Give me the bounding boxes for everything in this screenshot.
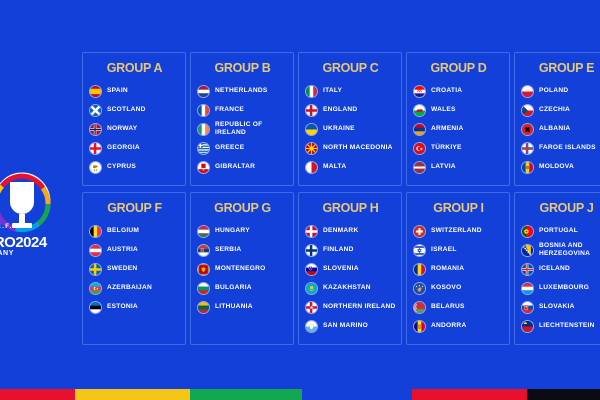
team-name: NETHERLANDS [215, 87, 268, 95]
flag-bulgaria [197, 282, 210, 295]
flag-georgia [89, 142, 102, 155]
team-name: WALES [431, 106, 456, 114]
team-name: TÜRKIYE [431, 144, 462, 152]
team-name: NORWAY [107, 125, 137, 133]
team-name: BELGIUM [107, 227, 139, 235]
team-name: SPAIN [107, 87, 128, 95]
flag-moldova [521, 161, 534, 174]
uefa-label: U.E.F.A. [0, 224, 22, 230]
group-title: GROUP A [89, 61, 180, 75]
team-row[interactable]: GREECE [197, 139, 288, 157]
team-row[interactable]: AZERBAIJAN [89, 279, 180, 297]
team-row[interactable]: ENGLAND [305, 101, 396, 119]
team-row[interactable]: ISRAEL [413, 241, 504, 259]
team-name: CROATIA [431, 87, 462, 95]
flag-albania [521, 123, 534, 136]
team-row[interactable]: NORTH MACEDONIA [305, 139, 396, 157]
team-row[interactable]: BELGIUM [89, 222, 180, 240]
team-row[interactable]: SCOTLAND [89, 101, 180, 119]
group-title: GROUP F [89, 201, 180, 215]
team-row[interactable]: LIECHTENSTEIN [521, 317, 600, 335]
team-row[interactable]: FINLAND [305, 241, 396, 259]
team-row[interactable]: MONTENEGRO [197, 260, 288, 278]
team-name: LATVIA [431, 163, 456, 171]
flag-finland [305, 244, 318, 257]
group-panel-i: GROUP ISWITZERLANDISRAELROMANIAKOSOVOBEL… [406, 192, 510, 345]
team-row[interactable]: TÜRKIYE [413, 139, 504, 157]
flag-azerbaijan [89, 282, 102, 295]
flag-kazakhstan [305, 282, 318, 295]
group-panel-f: GROUP FBELGIUMAUSTRIASWEDENAZERBAIJANEST… [82, 192, 186, 345]
team-row[interactable]: BELARUS [413, 298, 504, 316]
team-name: SLOVENIA [323, 265, 359, 273]
team-row[interactable]: GIBRALTAR [197, 158, 288, 176]
flag-iceland [521, 263, 534, 276]
flag-italy [305, 85, 318, 98]
team-name: FAROE ISLANDS [539, 144, 596, 152]
team-row[interactable]: MOLDOVA [521, 158, 600, 176]
flag-serbia [197, 244, 210, 257]
team-row[interactable]: AUSTRIA [89, 241, 180, 259]
flag-kosovo [413, 282, 426, 295]
team-name: LIECHTENSTEIN [539, 322, 595, 330]
team-name: BELARUS [431, 303, 465, 311]
group-panel-c: GROUP CITALYENGLANDUKRAINENORTH MACEDONI… [298, 52, 402, 186]
team-name: BOSNIA AND HERZEGOVINA [539, 242, 600, 258]
team-row[interactable]: KOSOVO [413, 279, 504, 297]
team-name: CZECHIA [539, 106, 570, 114]
team-row[interactable]: LITHUANIA [197, 298, 288, 316]
euro-2024-logo: U.E.F.A. EURO2024 GERMANY [0, 172, 70, 264]
team-row[interactable]: ALBANIA [521, 120, 600, 138]
stripe-black [527, 389, 600, 400]
team-name: SAN MARINO [323, 322, 368, 330]
team-name: ICELAND [539, 265, 570, 273]
stripe-yellow [75, 389, 190, 400]
flag-north-macedonia [305, 142, 318, 155]
team-row[interactable]: SPAIN [89, 82, 180, 100]
group-panel-a: GROUP ASPAINSCOTLANDNORWAYGEORGIACYPRUS [82, 52, 186, 186]
team-row[interactable]: NETHERLANDS [197, 82, 288, 100]
team-name: ISRAEL [431, 246, 457, 254]
flag-israel [413, 244, 426, 257]
flag-denmark [305, 225, 318, 238]
team-row[interactable]: LUXEMBOURG [521, 279, 600, 297]
team-name: POLAND [539, 87, 568, 95]
team-name: AUSTRIA [107, 246, 138, 254]
team-row[interactable]: UKRAINE [305, 120, 396, 138]
team-row[interactable]: ARMENIA [413, 120, 504, 138]
flag-norway [89, 123, 102, 136]
flag-romania [413, 263, 426, 276]
flag-sweden [89, 263, 102, 276]
team-row[interactable]: FRANCE [197, 101, 288, 119]
bottom-color-stripe [0, 389, 600, 400]
stripe-red-2 [412, 389, 527, 400]
flag-spain [89, 85, 102, 98]
team-row[interactable]: REPUBLIC OF IRELAND [197, 120, 288, 138]
team-row[interactable]: BOSNIA AND HERZEGOVINA [521, 241, 600, 259]
team-name: NORTH MACEDONIA [323, 144, 393, 152]
group-panel-b: GROUP BNETHERLANDSFRANCEREPUBLIC OF IREL… [190, 52, 294, 186]
germany-label: GERMANY [0, 250, 74, 257]
flag-scotland [89, 104, 102, 117]
flag-france [197, 104, 210, 117]
flag-portugal [521, 225, 534, 238]
flag-greece [197, 142, 210, 155]
flag-gibraltar [197, 161, 210, 174]
team-name: KAZAKHSTAN [323, 284, 371, 292]
flag-montenegro [197, 263, 210, 276]
flag-slovenia [305, 263, 318, 276]
flag-hungary [197, 225, 210, 238]
team-row[interactable]: PORTUGAL [521, 222, 600, 240]
team-row[interactable]: MALTA [305, 158, 396, 176]
flag-bosnia-and-herzegovina [521, 244, 534, 257]
stripe-blue [302, 389, 412, 400]
team-row[interactable]: CYPRUS [89, 158, 180, 176]
team-row[interactable]: DENMARK [305, 222, 396, 240]
group-title: GROUP E [521, 61, 600, 75]
flag-estonia [89, 301, 102, 314]
team-name: CYPRUS [107, 163, 136, 171]
team-row[interactable]: ESTONIA [89, 298, 180, 316]
flag-slovakia [521, 301, 534, 314]
group-title: GROUP G [197, 201, 288, 215]
team-row[interactable]: POLAND [521, 82, 600, 100]
team-row[interactable]: SLOVAKIA [521, 298, 600, 316]
team-name: PORTUGAL [539, 227, 578, 235]
flag-belarus [413, 301, 426, 314]
group-title: GROUP H [305, 201, 396, 215]
flag-netherlands [197, 85, 210, 98]
team-name: MOLDOVA [539, 163, 574, 171]
flag-switzerland [413, 225, 426, 238]
team-row[interactable]: NORTHERN IRELAND [305, 298, 396, 316]
team-name: ESTONIA [107, 303, 138, 311]
group-panel-d: GROUP DCROATIAWALESARMENIATÜRKIYELATVIA [406, 52, 510, 186]
team-name: KOSOVO [431, 284, 461, 292]
flag-czechia [521, 104, 534, 117]
team-name: FRANCE [215, 106, 244, 114]
flag-austria [89, 244, 102, 257]
flag-republic-of-ireland [197, 123, 210, 136]
team-name: SWEDEN [107, 265, 137, 273]
team-name: BULGARIA [215, 284, 252, 292]
flag-andorra [413, 320, 426, 333]
team-name: SLOVAKIA [539, 303, 575, 311]
flag-liechtenstein [521, 320, 534, 333]
team-name: GREECE [215, 144, 244, 152]
team-row[interactable]: SAN MARINO [305, 317, 396, 335]
team-row[interactable]: HUNGARY [197, 222, 288, 240]
flag-ukraine [305, 123, 318, 136]
team-row[interactable]: ITALY [305, 82, 396, 100]
team-name: GEORGIA [107, 144, 140, 152]
flag-malta [305, 161, 318, 174]
groups-grid: GROUP ASPAINSCOTLANDNORWAYGEORGIACYPRUSG… [82, 52, 600, 345]
team-name: DENMARK [323, 227, 358, 235]
team-row[interactable]: NORWAY [89, 120, 180, 138]
stripe-red [0, 389, 75, 400]
team-row[interactable]: CZECHIA [521, 101, 600, 119]
flag-faroe-islands [521, 142, 534, 155]
group-title: GROUP C [305, 61, 396, 75]
qualifying-draw-screen: QUALIFYING DRAW U.E.F.A. EURO [0, 0, 600, 400]
team-name: AZERBAIJAN [107, 284, 152, 292]
team-row[interactable]: CROATIA [413, 82, 504, 100]
team-name: GIBRALTAR [215, 163, 255, 171]
branding-rail: QUALIFYING DRAW U.E.F.A. EURO [0, 0, 80, 400]
group-title: GROUP B [197, 61, 288, 75]
team-row[interactable]: ROMANIA [413, 260, 504, 278]
team-row[interactable]: LATVIA [413, 158, 504, 176]
flag-armenia [413, 123, 426, 136]
stripe-green [190, 389, 302, 400]
team-name: SERBIA [215, 246, 241, 254]
team-row[interactable]: BULGARIA [197, 279, 288, 297]
flag-turkiye [413, 142, 426, 155]
team-row[interactable]: SLOVENIA [305, 260, 396, 278]
team-row[interactable]: FAROE ISLANDS [521, 139, 600, 157]
team-name: ROMANIA [431, 265, 464, 273]
team-name: LITHUANIA [215, 303, 253, 311]
flag-san-marino [305, 320, 318, 333]
flag-poland [521, 85, 534, 98]
group-title: GROUP I [413, 201, 504, 215]
team-name: MONTENEGRO [215, 265, 266, 273]
team-row[interactable]: SWITZERLAND [413, 222, 504, 240]
group-panel-g: GROUP GHUNGARYSERBIAMONTENEGROBULGARIALI… [190, 192, 294, 345]
team-name: ARMENIA [431, 125, 464, 133]
group-panel-h: GROUP HDENMARKFINLANDSLOVENIAKAZAKHSTANN… [298, 192, 402, 345]
group-title: GROUP D [413, 61, 504, 75]
team-name: ALBANIA [539, 125, 570, 133]
team-row[interactable]: KAZAKHSTAN [305, 279, 396, 297]
flag-england [305, 104, 318, 117]
flag-luxembourg [521, 282, 534, 295]
team-row[interactable]: GEORGIA [89, 139, 180, 157]
flag-latvia [413, 161, 426, 174]
team-row[interactable]: WALES [413, 101, 504, 119]
team-name: FINLAND [323, 246, 354, 254]
flag-wales [413, 104, 426, 117]
group-title: GROUP J [521, 201, 600, 215]
team-row[interactable]: SERBIA [197, 241, 288, 259]
team-name: SWITZERLAND [431, 227, 482, 235]
flag-northern-ireland [305, 301, 318, 314]
team-name: SCOTLAND [107, 106, 146, 114]
team-name: LUXEMBOURG [539, 284, 589, 292]
team-row[interactable]: ICELAND [521, 260, 600, 278]
euro-2024-wordmark: EURO2024 [0, 234, 74, 251]
team-name: HUNGARY [215, 227, 250, 235]
team-name: NORTHERN IRELAND [323, 303, 396, 311]
team-name: MALTA [323, 163, 346, 171]
team-row[interactable]: SWEDEN [89, 260, 180, 278]
flag-croatia [413, 85, 426, 98]
team-row[interactable]: ANDORRA [413, 317, 504, 335]
team-name: ITALY [323, 87, 342, 95]
team-name: ANDORRA [431, 322, 466, 330]
group-panel-e: GROUP EPOLANDCZECHIAALBANIAFAROE ISLANDS… [514, 52, 600, 186]
flag-belgium [89, 225, 102, 238]
group-panel-j: GROUP JPORTUGALBOSNIA AND HERZEGOVINAICE… [514, 192, 600, 345]
flag-cyprus [89, 161, 102, 174]
team-name: UKRAINE [323, 125, 355, 133]
team-name: REPUBLIC OF IRELAND [215, 121, 288, 137]
flag-lithuania [197, 301, 210, 314]
team-name: ENGLAND [323, 106, 357, 114]
